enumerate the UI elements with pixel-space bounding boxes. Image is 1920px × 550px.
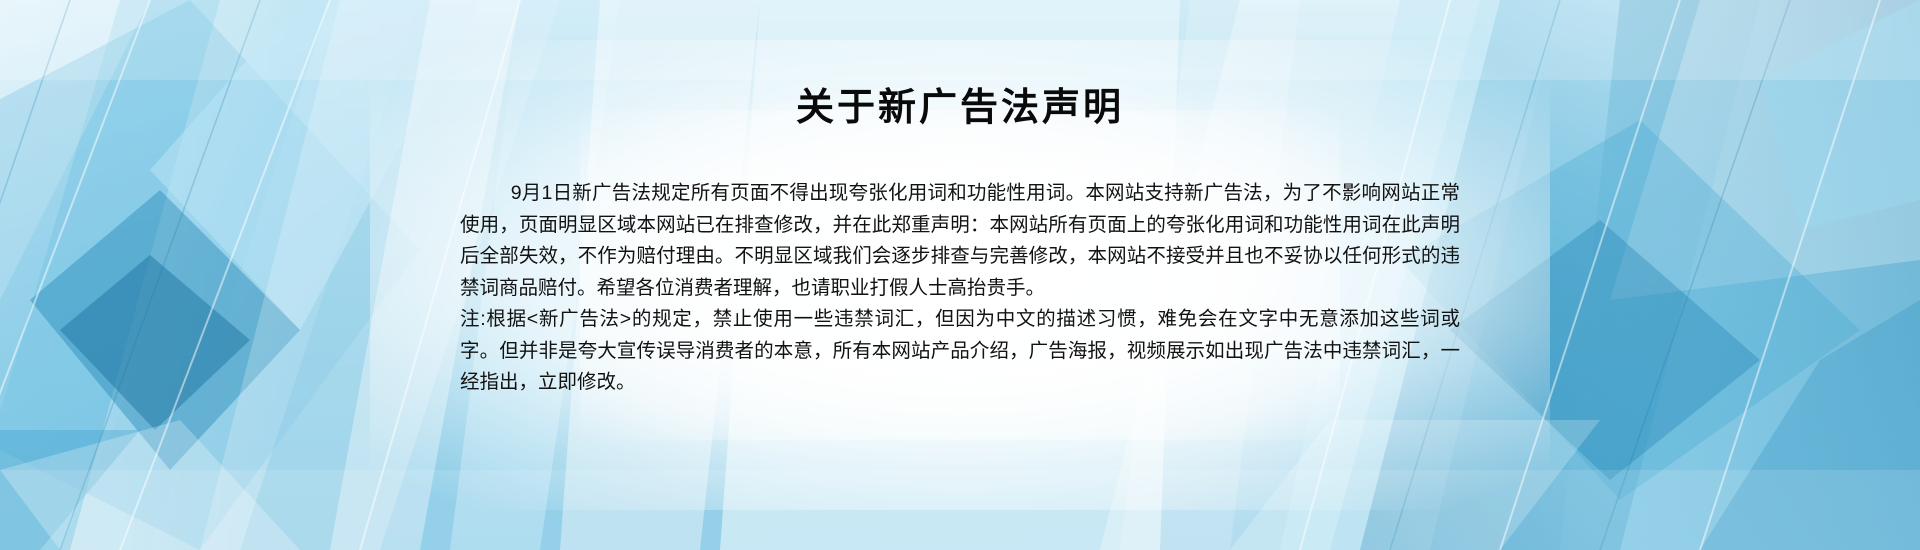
page-title: 关于新广告法声明 [0, 86, 1920, 132]
statement-content: 关于新广告法声明 9月1日新广告法规定所有页面不得出现夸张化用词和功能性用词。本… [0, 0, 1920, 550]
statement-paragraph-note: 注:根据<新广告法>的规定，禁止使用一些违禁词汇，但因为中文的描述习惯，难免会在… [460, 304, 1460, 399]
statement-body: 9月1日新广告法规定所有页面不得出现夸张化用词和功能性用词。本网站支持新广告法，… [460, 178, 1460, 399]
statement-paragraph-main: 9月1日新广告法规定所有页面不得出现夸张化用词和功能性用词。本网站支持新广告法，… [460, 178, 1460, 304]
advertising-law-statement-banner: 关于新广告法声明 9月1日新广告法规定所有页面不得出现夸张化用词和功能性用词。本… [0, 0, 1920, 550]
